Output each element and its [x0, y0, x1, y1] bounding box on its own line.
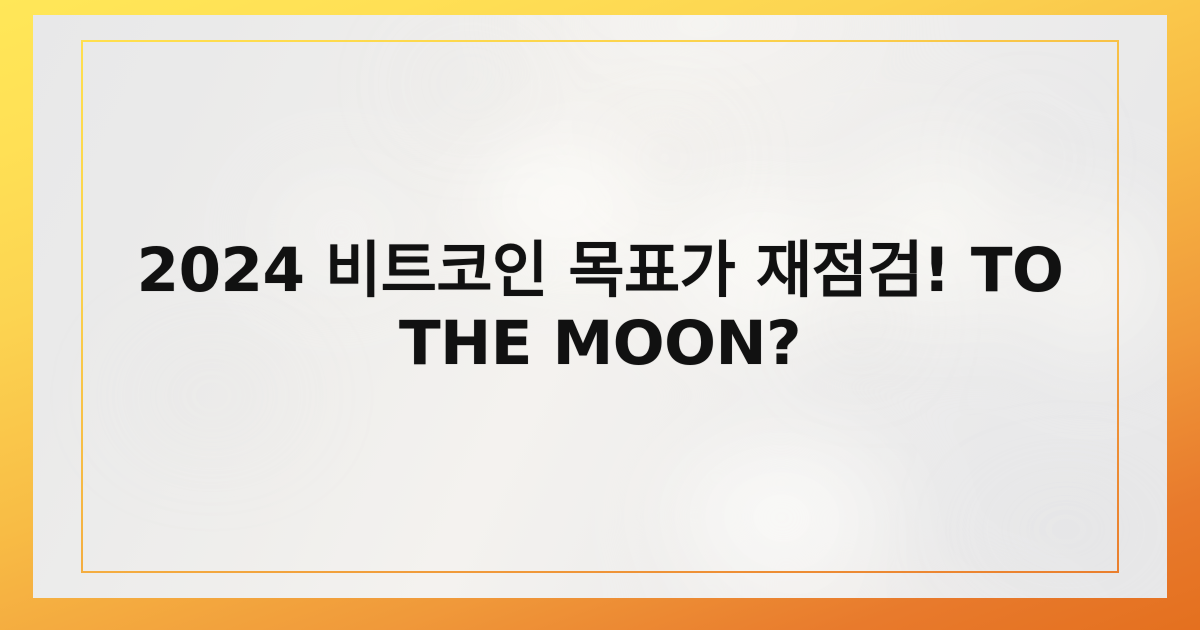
- thumbnail-card: 2024 비트코인 목표가 재점검! TO THE MOON?: [0, 0, 1200, 630]
- page-title: 2024 비트코인 목표가 재점검! TO THE MOON?: [123, 234, 1077, 380]
- title-block: 2024 비트코인 목표가 재점검! TO THE MOON?: [33, 234, 1167, 380]
- photo-panel: 2024 비트코인 목표가 재점검! TO THE MOON?: [33, 15, 1167, 598]
